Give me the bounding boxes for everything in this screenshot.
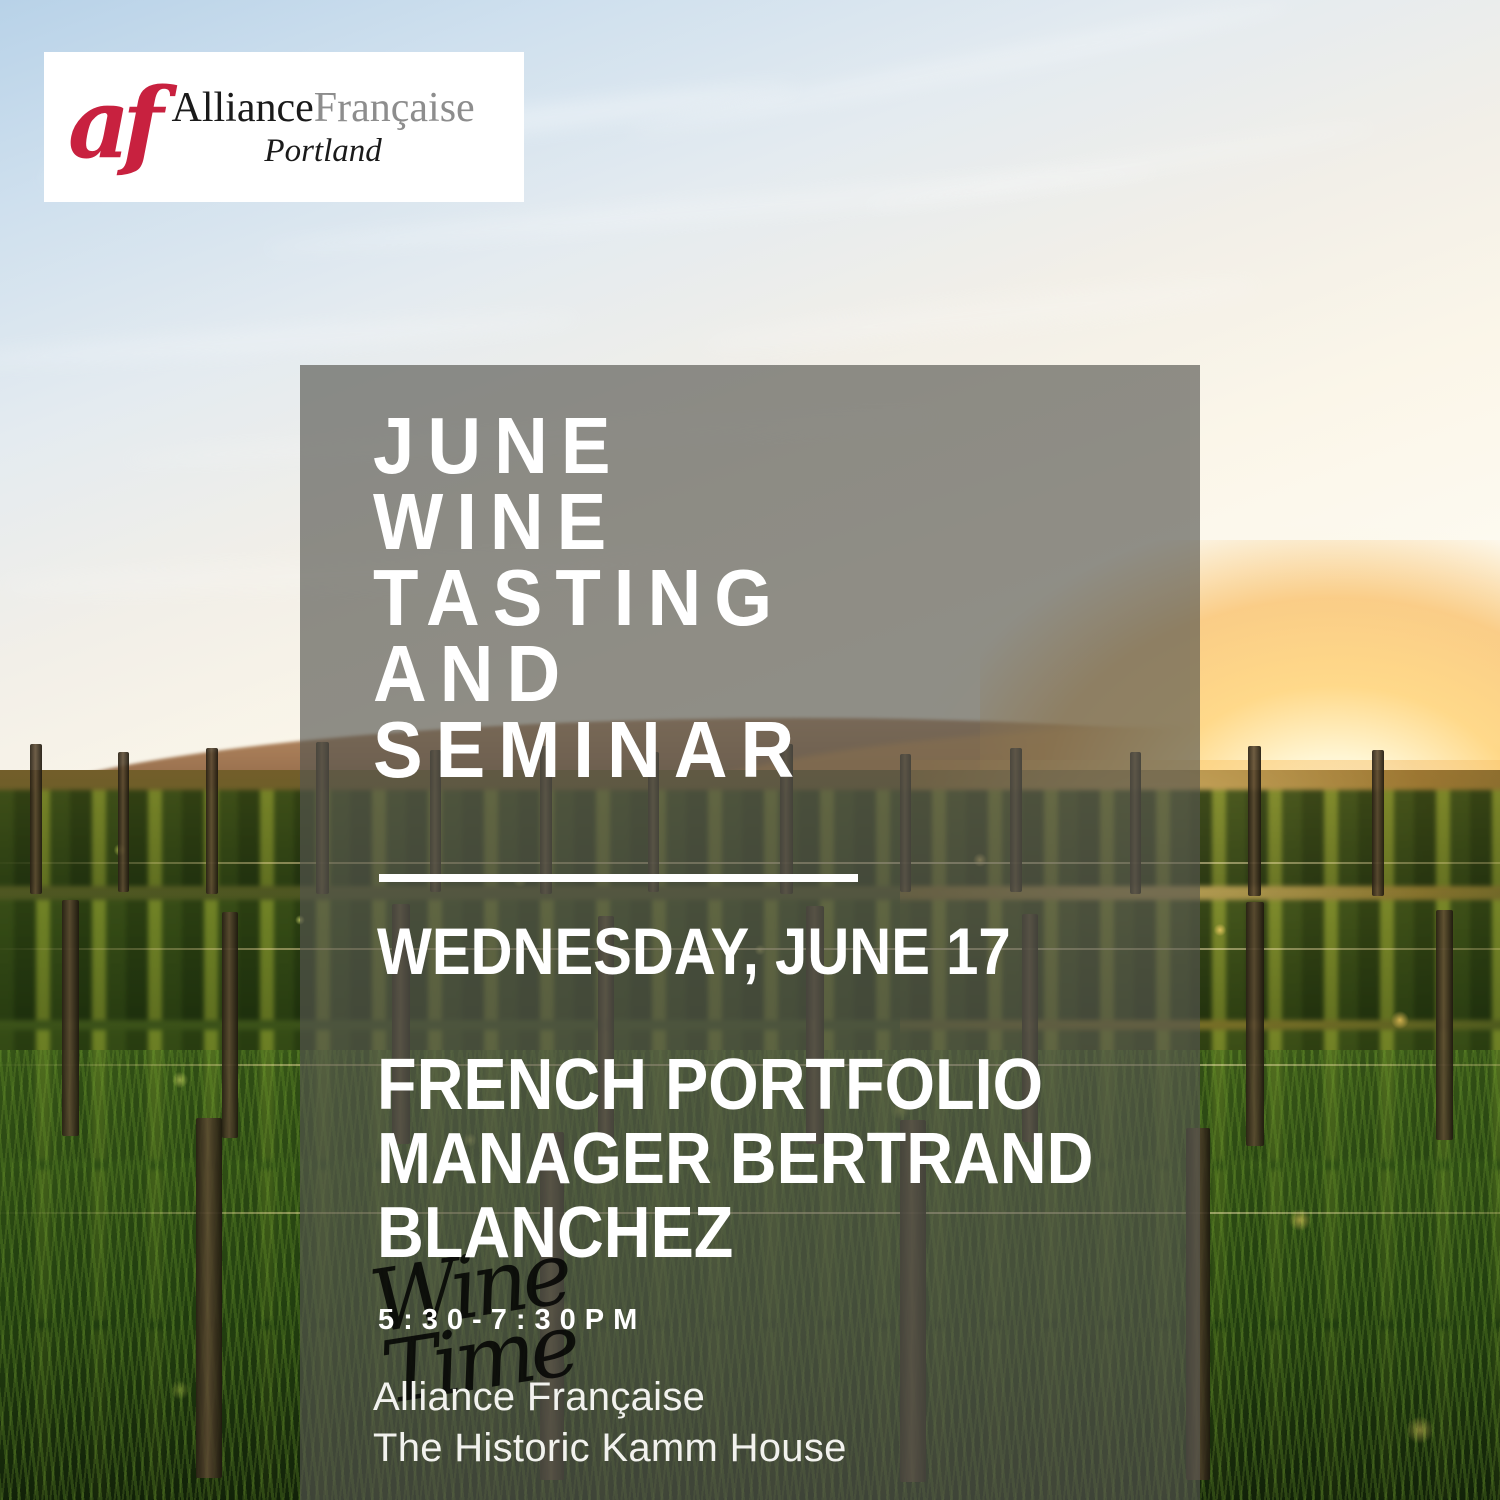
af-monogram-icon: af <box>68 86 156 163</box>
event-headline: JUNE WINE TASTING AND SEMINAR <box>373 408 1136 788</box>
event-date: WEDNESDAY, JUNE 17 <box>377 918 1011 984</box>
logo-francaise-text: Française <box>314 85 475 131</box>
headline-line-3: TASTING <box>373 560 1136 636</box>
event-venue: Alliance Française The Historic Kamm Hou… <box>373 1372 847 1474</box>
headline-line-4: AND <box>373 636 1136 712</box>
logo-chapter-text: Portland <box>264 135 381 168</box>
event-speaker: FRENCH PORTFOLIO MANAGER BERTRAND BLANCH… <box>377 1048 1151 1270</box>
logo-alliance-text: Alliance <box>172 85 314 131</box>
venue-line-2: The Historic Kamm House <box>373 1423 847 1474</box>
event-poster: Wine Time JUNE WINE TASTING AND SEMINAR … <box>0 0 1500 1500</box>
headline-line-1: JUNE <box>373 408 1136 484</box>
logo-wordmark: AllianceFrançaise Portland <box>172 87 475 168</box>
event-time: 5:30-7:30PM <box>378 1306 646 1335</box>
poster-content: JUNE WINE TASTING AND SEMINAR WEDNESDAY,… <box>0 0 1500 1500</box>
venue-line-1: Alliance Française <box>373 1372 847 1423</box>
logo-name-row: AllianceFrançaise <box>172 87 475 129</box>
alliance-francaise-logo: af AllianceFrançaise Portland <box>44 52 524 202</box>
headline-line-5: SEMINAR <box>373 712 1136 788</box>
headline-line-2: WINE <box>373 484 1136 560</box>
divider-rule <box>379 874 858 882</box>
